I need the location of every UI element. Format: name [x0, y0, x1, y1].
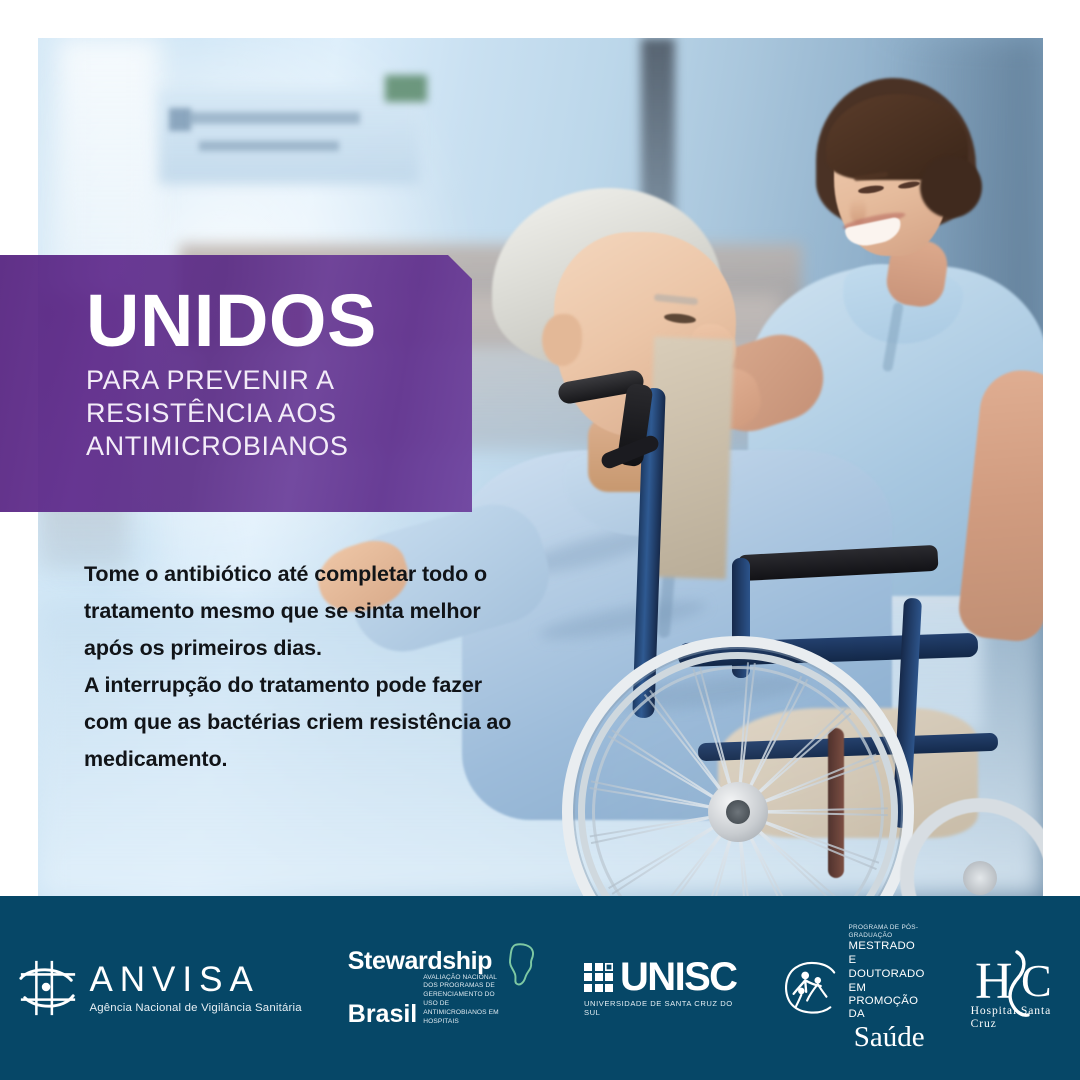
- saude-line-1: MESTRADO: [848, 940, 924, 953]
- saude-wordmark: PROGRAMA DE PÓS-GRADUAÇÃO MESTRADO E DOU…: [848, 924, 924, 1051]
- unisc-name: UNISC: [620, 959, 736, 996]
- stewardship-second-row: Brasil AVALIAÇÃO NACIONAL DOS PROGRAMAS …: [348, 974, 500, 1028]
- saude-line-2: E DOUTORADO: [848, 954, 924, 980]
- partner-logos: ANVISA Agência Nacional de Vigilância Sa…: [0, 896, 1080, 1080]
- saude-figures-icon: [782, 959, 840, 1017]
- body-copy: Tome o antibiótico até completar todo o …: [84, 556, 514, 778]
- subtitle-line-1: PARA PREVENIR A: [86, 364, 472, 397]
- anvisa-name: ANVISA: [89, 962, 301, 997]
- saude-name: Saúde: [854, 1023, 925, 1052]
- anvisa-emblem-icon: [17, 957, 79, 1019]
- svg-text:C: C: [1021, 955, 1052, 1006]
- saude-program-label: PROGRAMA DE PÓS-GRADUAÇÃO: [848, 924, 924, 939]
- logo-hospital-santa-cruz[interactable]: H C Hospital Santa Cruz: [971, 946, 1063, 1030]
- subtitle-line-2: RESISTÊNCIA AOS: [86, 397, 472, 430]
- unisc-wordmark: UNISC: [584, 959, 736, 996]
- headline-banner: UNIDOS PARA PREVENIR A RESISTÊNCIA AOS A…: [0, 255, 472, 512]
- hsc-tagline: Hospital Santa Cruz: [971, 1004, 1063, 1030]
- page-subtitle: PARA PREVENIR A RESISTÊNCIA AOS ANTIMICR…: [86, 364, 472, 463]
- logo-mestrado-saude[interactable]: PROGRAMA DE PÓS-GRADUAÇÃO MESTRADO E DOU…: [782, 924, 924, 1051]
- saude-line-3: EM PROMOÇÃO DA: [848, 982, 924, 1022]
- anvisa-wordmark: ANVISA Agência Nacional de Vigilância Sa…: [89, 962, 301, 1014]
- stewardship-tagline: AVALIAÇÃO NACIONAL DOS PROGRAMAS DE GERE…: [423, 974, 499, 1028]
- unisc-tagline: UNIVERSIDADE DE SANTA CRUZ DO SUL: [584, 999, 736, 1017]
- stewardship-line-2: Brasil: [348, 1002, 417, 1027]
- wheelchair-rear-wheel: [562, 636, 914, 896]
- logo-stewardship-brasil[interactable]: Stewardship Brasil AVALIAÇÃO NACIONAL DO…: [348, 949, 538, 1028]
- logo-anvisa[interactable]: ANVISA Agência Nacional de Vigilância Sa…: [17, 957, 301, 1019]
- front-wheel-hub: [963, 861, 997, 895]
- brazil-map-icon: [506, 937, 538, 993]
- svg-text:H: H: [975, 953, 1013, 1010]
- campaign-poster: UNIDOS PARA PREVENIR A RESISTÊNCIA AOS A…: [0, 0, 1080, 1080]
- subtitle-line-3: ANTIMICROBIANOS: [86, 430, 472, 463]
- logo-unisc[interactable]: UNISC UNIVERSIDADE DE SANTA CRUZ DO SUL: [584, 959, 736, 1017]
- footer-bar: ANVISA Agência Nacional de Vigilância Sa…: [0, 896, 1080, 1080]
- body-paragraph-2: A interrupção do tratamento pode fazer c…: [84, 667, 514, 778]
- page-title: UNIDOS: [86, 285, 472, 356]
- anvisa-tagline: Agência Nacional de Vigilância Sanitária: [89, 1002, 301, 1014]
- stewardship-line-1: Stewardship: [348, 949, 500, 974]
- wheelchair-front-wheel: [900, 798, 1043, 896]
- stewardship-wordmark: Stewardship Brasil AVALIAÇÃO NACIONAL DO…: [348, 949, 500, 1028]
- wheelchair-armrest: [737, 545, 938, 581]
- wheel-axle: [726, 800, 750, 824]
- unisc-grid-icon: [584, 963, 613, 992]
- body-paragraph-1: Tome o antibiótico até completar todo o …: [84, 556, 514, 667]
